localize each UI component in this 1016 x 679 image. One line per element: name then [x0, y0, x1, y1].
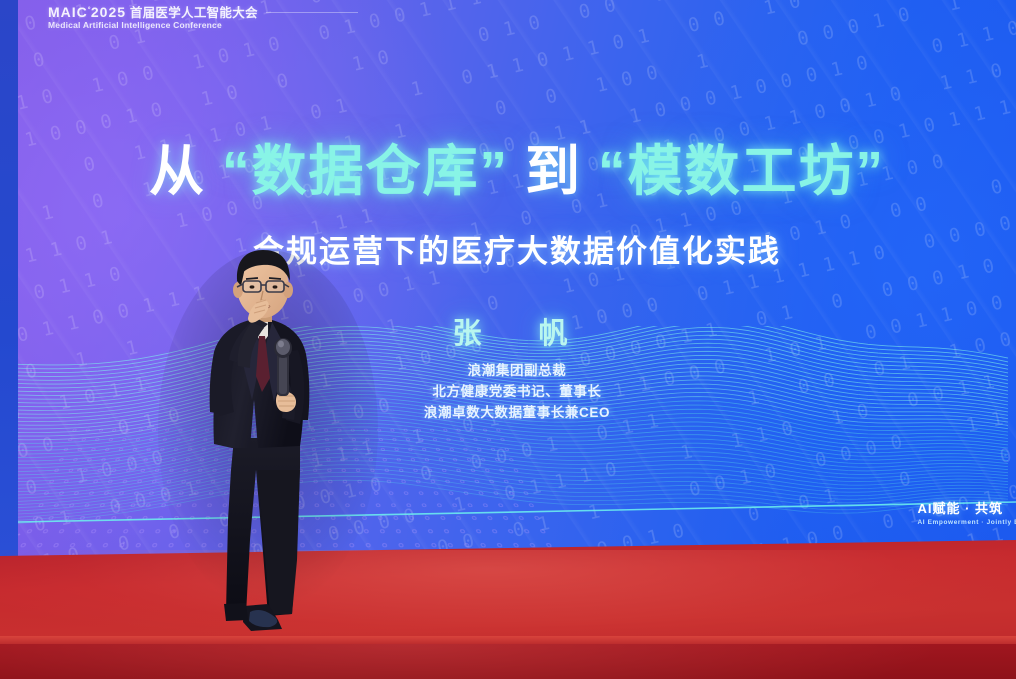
speaker-figure	[0, 0, 1016, 679]
conference-stage-photo: 0 10001 110000 011111000110110 0 00 1101…	[0, 0, 1016, 679]
